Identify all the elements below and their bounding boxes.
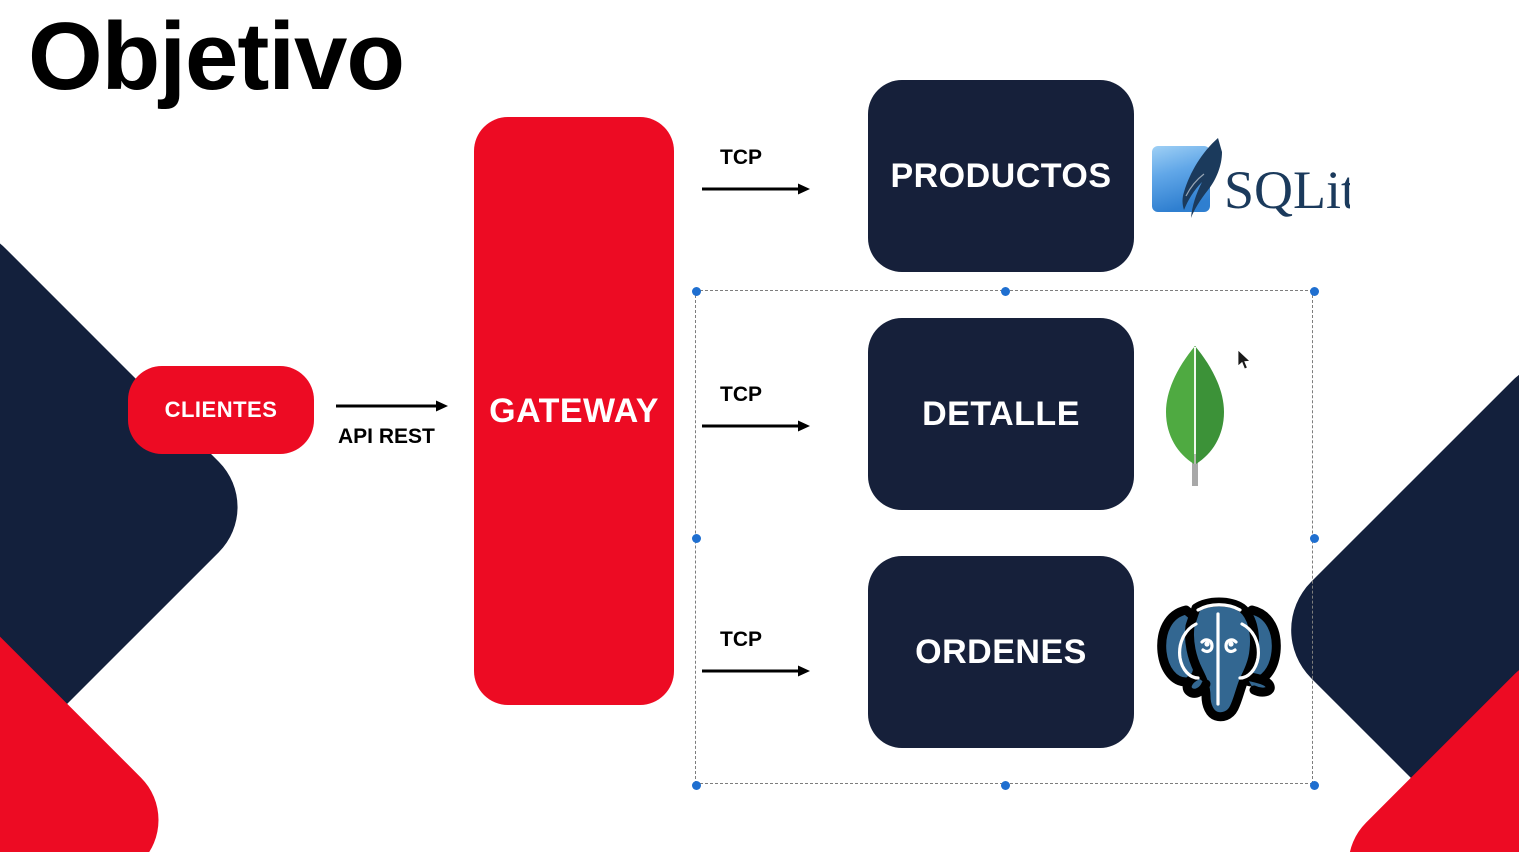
decoration-red-left bbox=[0, 587, 183, 852]
selection-handle-top-right[interactable] bbox=[1310, 287, 1319, 296]
arrow-pointer-icon bbox=[1238, 350, 1252, 370]
connector-tcp-productos-label: TCP bbox=[720, 146, 762, 170]
selection-handle-middle-left[interactable] bbox=[692, 534, 701, 543]
connector-api-rest-label: API REST bbox=[338, 425, 435, 449]
slide-canvas: Objetivo CLIENTES API REST GATEWAY TCP T… bbox=[0, 0, 1519, 852]
selection-handle-bottom-left[interactable] bbox=[692, 781, 701, 790]
selection-handle-bottom-center[interactable] bbox=[1001, 781, 1010, 790]
selection-handle-middle-right[interactable] bbox=[1310, 534, 1319, 543]
node-productos-label: PRODUCTOS bbox=[890, 157, 1111, 196]
sqlite-wordmark: SQLite bbox=[1224, 160, 1350, 220]
arrow-right-icon bbox=[336, 399, 448, 413]
selection-handle-top-center[interactable] bbox=[1001, 287, 1010, 296]
sqlite-logo-icon: SQLite bbox=[1150, 132, 1350, 228]
node-clientes[interactable]: CLIENTES bbox=[128, 366, 314, 454]
selection-handle-top-left[interactable] bbox=[692, 287, 701, 296]
arrow-right-icon bbox=[702, 182, 810, 196]
selection-bounding-box[interactable] bbox=[695, 290, 1313, 784]
page-title: Objetivo bbox=[28, 2, 404, 112]
node-clientes-label: CLIENTES bbox=[165, 397, 278, 423]
mouse-cursor-icon bbox=[1238, 350, 1252, 370]
node-gateway-label: GATEWAY bbox=[489, 392, 659, 431]
node-productos[interactable]: PRODUCTOS bbox=[868, 80, 1134, 272]
connector-api-rest: API REST bbox=[336, 395, 456, 467]
decoration-navy-left bbox=[0, 203, 264, 811]
decoration-red-right bbox=[1324, 632, 1519, 852]
node-gateway[interactable]: GATEWAY bbox=[474, 117, 674, 705]
sqlite-logo: SQLite bbox=[1150, 132, 1350, 228]
connector-tcp-productos: TCP bbox=[702, 146, 822, 218]
selection-handle-bottom-right[interactable] bbox=[1310, 781, 1319, 790]
